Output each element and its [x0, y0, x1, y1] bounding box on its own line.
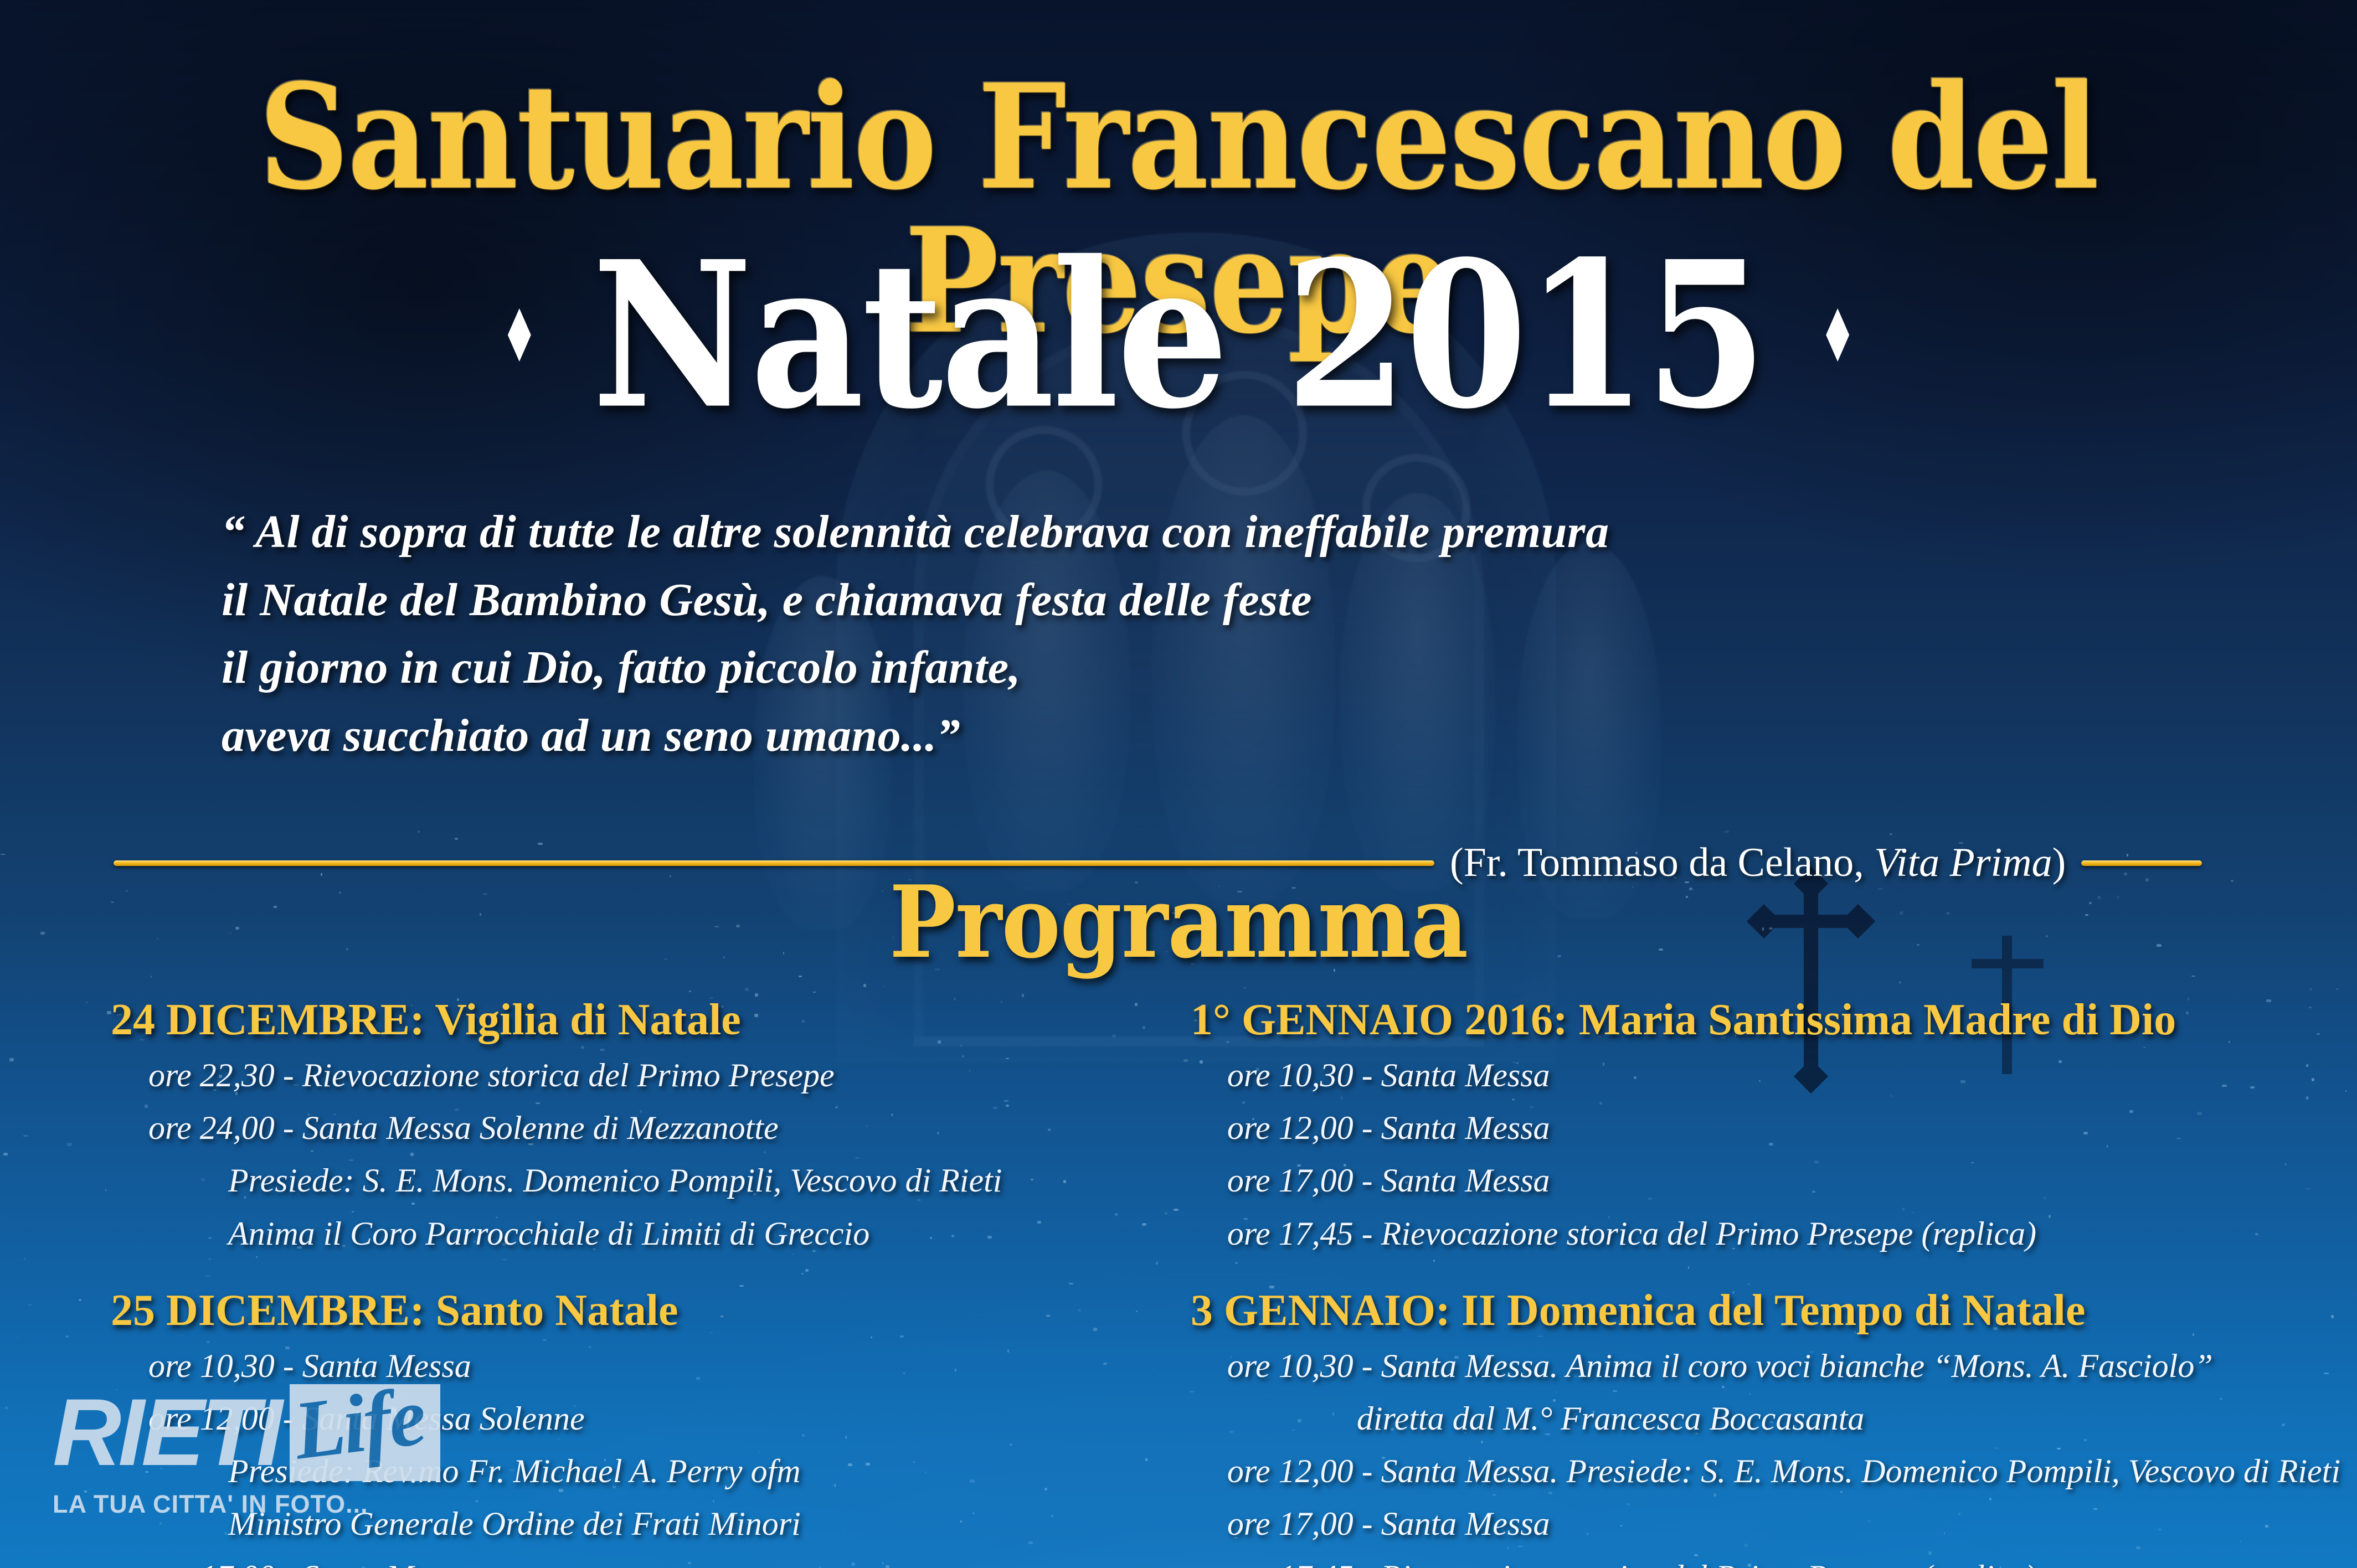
program-event: Ministro Generale Ordine dei Frati Minor… — [228, 1507, 1124, 1541]
program-day-block: 25 DICEMBRE: Santo Natale ore 10,30 - Sa… — [111, 1287, 1124, 1568]
program-event: ore 17,00 - Santa Messa — [148, 1560, 1124, 1568]
program-event: ore 10,30 - Santa Messa. Anima il coro v… — [1227, 1349, 2340, 1383]
program-columns: 24 DICEMBRE: Vigilia di Natale ore 22,30… — [0, 997, 2357, 1568]
quotation-block: “ Al di sopra di tutte le altre solennit… — [222, 498, 1994, 770]
program-event: Presiede: S. E. Mons. Domenico Pompili, … — [228, 1164, 1124, 1198]
program-event: ore 12,00 - Santa Messa Solenne — [148, 1402, 1124, 1436]
programma-heading: Programma — [0, 864, 2357, 981]
diamond-ornament-right-icon — [1826, 308, 1849, 362]
program-event: ore 22,30 - Rievocazione storica del Pri… — [148, 1059, 1124, 1092]
program-event: ore 17,00 - Santa Messa — [1227, 1164, 2340, 1198]
diamond-ornament-left-icon — [508, 308, 531, 362]
program-day-block: 24 DICEMBRE: Vigilia di Natale ore 22,30… — [111, 997, 1124, 1251]
quote-line: il Natale del Bambino Gesù, e chiamava f… — [222, 566, 1994, 635]
program-event: ore 10,30 - Santa Messa — [1227, 1059, 2340, 1092]
quote-line: aveva succhiato ad un seno umano...” — [222, 702, 1994, 770]
program-day-block: 1° GENNAIO 2016: Maria Santissima Madre … — [1191, 997, 2340, 1251]
program-day-title: 3 GENNAIO: II Domenica del Tempo di Nata… — [1191, 1287, 2340, 1334]
program-column-left: 24 DICEMBRE: Vigilia di Natale ore 22,30… — [0, 997, 1146, 1568]
subtitle-row: Natale 2015 — [0, 244, 2357, 426]
program-day-title: 25 DICEMBRE: Santo Natale — [111, 1287, 1124, 1334]
program-event: Presiede: Rev.mo Fr. Michael A. Perry of… — [228, 1454, 1124, 1488]
program-event: ore 10,30 - Santa Messa — [148, 1349, 1124, 1383]
program-event: ore 12,00 - Santa Messa — [1227, 1111, 2340, 1145]
program-event: ore 17,45 - Rievocazione storica del Pri… — [1227, 1217, 2340, 1251]
quote-line: il giorno in cui Dio, fatto piccolo infa… — [222, 634, 1994, 702]
program-event: diretta dal M.° Francesca Boccasanta — [1357, 1402, 2340, 1436]
program-event: ore 24,00 - Santa Messa Solenne di Mezza… — [148, 1111, 1124, 1145]
program-day-block: 3 GENNAIO: II Domenica del Tempo di Nata… — [1191, 1287, 2340, 1568]
quote-line: “ Al di sopra di tutte le altre solennit… — [222, 498, 1994, 566]
program-column-right: 1° GENNAIO 2016: Maria Santissima Madre … — [1146, 997, 2357, 1568]
program-event: ore 17,00 - Santa Messa — [1227, 1507, 2340, 1541]
page-subtitle: Natale 2015 — [592, 235, 1765, 436]
program-event: ore 12,00 - Santa Messa. Presiede: S. E.… — [1227, 1454, 2340, 1488]
program-day-title: 1° GENNAIO 2016: Maria Santissima Madre … — [1191, 997, 2340, 1043]
program-day-title: 24 DICEMBRE: Vigilia di Natale — [111, 997, 1124, 1043]
program-event: Anima il Coro Parrocchiale di Limiti di … — [228, 1217, 1124, 1251]
poster-content: Santuario Francescano del Presepe Natale… — [0, 0, 2357, 1568]
program-event: ore 17,45 - Rievocazione storica del Pri… — [1227, 1560, 2340, 1568]
